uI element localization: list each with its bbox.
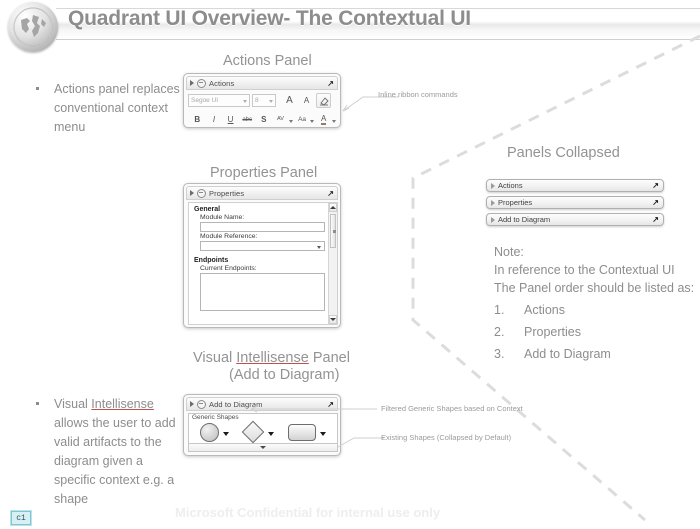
arrow-down-icon — [330, 318, 336, 321]
font-color-button[interactable]: A — [316, 112, 331, 127]
collapsed-panel-properties[interactable]: Properties ↗ — [486, 196, 664, 209]
collapsed-panel-label: Actions — [498, 181, 523, 190]
change-case-button[interactable]: Aa — [295, 112, 310, 127]
generic-shapes-group: Generic Shapes — [188, 413, 338, 444]
font-size-value: 8 — [255, 97, 259, 104]
properties-panel-body: General Module Name: Module Reference: E… — [188, 202, 338, 325]
heading-intellisense-word: Intellisense — [236, 350, 309, 366]
bullet-actions-panel: Actions panel replaces conventional cont… — [36, 80, 181, 137]
slide-title-bar: Quadrant UI Overview- The Contextual UI — [0, 0, 700, 46]
add-to-diagram-panel-title: Add to Diagram — [209, 400, 263, 409]
chevron-down-icon[interactable] — [317, 246, 321, 249]
annotation-filtered-generic-shapes: Filtered Generic Shapes based on Context — [381, 404, 523, 413]
panel-badge-icon — [197, 79, 206, 88]
collapsed-panel-actions[interactable]: Actions ↗ — [486, 179, 664, 192]
actions-ribbon-row-2: B I U abc S AV Aa A — [186, 111, 338, 128]
annotation-inline-ribbon-commands: Inline ribbon commands — [378, 90, 458, 99]
chevron-down-icon[interactable] — [332, 120, 336, 123]
heading-properties-panel: Properties Panel — [210, 165, 317, 181]
panel-badge-icon — [197, 400, 206, 409]
collapsed-panel-label: Add to Diagram — [498, 215, 550, 224]
properties-panel-title: Properties — [209, 189, 244, 198]
properties-vertical-scrollbar[interactable] — [328, 203, 337, 324]
heading-panels-collapsed: Panels Collapsed — [507, 145, 620, 161]
current-endpoints-textarea[interactable] — [200, 273, 325, 311]
expand-triangle-icon[interactable] — [190, 401, 194, 407]
note-block: Note: In reference to the Contextual UI … — [494, 243, 694, 363]
actions-panel[interactable]: Actions ↗ Segoe UI 8 A A B I — [183, 73, 341, 128]
note-line-2: The Panel order should be listed as: — [494, 279, 694, 297]
chevron-down-icon[interactable] — [268, 432, 274, 436]
grow-font-button[interactable]: A — [282, 93, 297, 108]
heading-visual-word: Visual — [193, 350, 236, 366]
note-item-label: Actions — [524, 301, 565, 319]
popout-arrow-icon[interactable]: ↗ — [652, 181, 659, 190]
arrow-up-icon — [330, 206, 336, 209]
chevron-down-icon — [260, 446, 266, 449]
chevron-down-icon[interactable] — [320, 432, 326, 436]
underline-button[interactable]: U — [223, 112, 238, 127]
bullet-text: Actions panel replaces conventional cont… — [54, 80, 181, 137]
popout-arrow-icon[interactable]: ↗ — [327, 79, 334, 88]
chevron-down-icon[interactable] — [310, 120, 314, 123]
rounded-rect-shape-icon — [288, 424, 316, 441]
actions-panel-title-bar[interactable]: Actions ↗ — [186, 76, 338, 90]
font-name-combo[interactable]: Segoe UI — [188, 94, 250, 107]
footer-confidentiality-text: Microsoft Confidential for internal use … — [175, 505, 440, 520]
module-reference-label: Module Reference: — [200, 233, 332, 240]
scroll-up-button[interactable] — [329, 203, 337, 212]
font-color-label: A — [321, 114, 326, 125]
shrink-font-button[interactable]: A — [299, 93, 314, 108]
note-item-label: Properties — [524, 323, 581, 341]
chevron-down-icon[interactable] — [223, 432, 229, 436]
globe-icon — [8, 2, 58, 52]
shrink-font-label: A — [304, 96, 309, 105]
page-title: Quadrant UI Overview- The Contextual UI — [68, 7, 471, 31]
note-line-1: In reference to the Contextual UI — [494, 261, 694, 279]
expand-triangle-icon[interactable] — [491, 217, 495, 223]
note-item-number: 1. — [494, 301, 524, 319]
scrollbar-thumb[interactable] — [330, 214, 336, 248]
bullet-underlined-term: Intellisense — [91, 397, 154, 411]
bold-button[interactable]: B — [190, 112, 205, 127]
change-case-label: Aa — [298, 116, 306, 123]
popout-arrow-icon[interactable]: ↗ — [652, 215, 659, 224]
collapsed-panel-label: Properties — [498, 198, 532, 207]
expand-triangle-icon[interactable] — [491, 183, 495, 189]
circle-shape-button[interactable] — [200, 423, 229, 442]
strikethrough-button[interactable]: abc — [240, 112, 255, 127]
popout-arrow-icon[interactable]: ↗ — [327, 400, 334, 409]
actions-panel-title: Actions — [209, 79, 234, 88]
generic-shapes-row — [189, 421, 337, 443]
bullet-visual-intellisense: Visual Intellisense allows the user to a… — [36, 395, 184, 509]
module-name-input[interactable] — [200, 222, 325, 232]
character-spacing-label: AV — [277, 117, 284, 122]
heading-actions-panel: Actions Panel — [223, 53, 312, 69]
annotation-existing-shapes: Existing Shapes (Collapsed by Default) — [381, 433, 511, 442]
properties-panel[interactable]: Properties ↗ General Module Name: Module… — [183, 183, 341, 328]
note-list-item: 3. Add to Diagram — [494, 345, 694, 363]
bullet-text: Visual Intellisense allows the user to a… — [54, 395, 184, 509]
current-endpoints-label: Current Endpoints: — [200, 265, 332, 272]
font-size-combo[interactable]: 8 — [252, 94, 276, 107]
module-reference-select[interactable] — [200, 241, 325, 251]
heading-intellisense-panel-line2: (Add to Diagram) — [229, 367, 339, 383]
font-name-value: Segoe UI — [191, 97, 218, 104]
character-spacing-button[interactable]: AV — [273, 112, 288, 127]
bullet-prefix: Visual — [54, 397, 91, 411]
popout-arrow-icon[interactable]: ↗ — [652, 198, 659, 207]
group-endpoints-label: Endpoints — [194, 257, 332, 264]
diamond-shape-button[interactable] — [243, 422, 274, 442]
italic-label: I — [213, 115, 215, 124]
comment-marker[interactable]: c1 — [11, 511, 31, 525]
shadow-label: S — [261, 115, 266, 124]
properties-panel-title-bar[interactable]: Properties ↗ — [186, 186, 338, 200]
add-to-diagram-title-bar[interactable]: Add to Diagram ↗ — [186, 397, 338, 411]
module-name-label: Module Name: — [200, 214, 332, 221]
group-general-label: General — [194, 206, 332, 213]
expand-triangle-icon[interactable] — [190, 80, 194, 86]
expand-triangle-icon[interactable] — [491, 200, 495, 206]
note-title: Note: — [494, 243, 694, 261]
chevron-down-icon[interactable] — [269, 100, 273, 103]
actions-ribbon-row-1: Segoe UI 8 A A — [186, 92, 338, 109]
grow-font-label: A — [286, 95, 293, 106]
add-to-diagram-panel[interactable]: Add to Diagram ↗ Generic Shapes — [183, 394, 341, 456]
scroll-down-button[interactable] — [329, 315, 337, 324]
properties-form: General Module Name: Module Reference: E… — [189, 203, 337, 314]
eraser-icon — [319, 96, 329, 106]
note-item-number: 3. — [494, 345, 524, 363]
rounded-rect-shape-button[interactable] — [288, 424, 326, 441]
clear-formatting-button[interactable] — [316, 93, 331, 108]
circle-shape-icon — [200, 423, 219, 442]
note-item-label: Add to Diagram — [524, 345, 611, 363]
heading-panel-word: Panel — [309, 350, 350, 366]
text-shadow-button[interactable]: S — [257, 112, 272, 127]
bullet-dot-icon — [36, 402, 39, 405]
bold-label: B — [194, 115, 200, 124]
note-item-number: 2. — [494, 323, 524, 341]
note-list-item: 1. Actions — [494, 301, 694, 319]
diamond-shape-icon — [242, 421, 265, 444]
underline-label: U — [228, 115, 234, 124]
chevron-down-icon[interactable] — [243, 100, 247, 103]
leader-line-existing-shapes — [336, 433, 386, 451]
heading-intellisense-panel-line1: Visual Intellisense Panel — [193, 350, 350, 366]
generic-shapes-label: Generic Shapes — [189, 414, 337, 421]
bullet-dot-icon — [36, 87, 39, 90]
chevron-down-icon[interactable] — [289, 120, 293, 123]
popout-arrow-icon[interactable]: ↗ — [327, 189, 334, 198]
strikethrough-label: abc — [242, 117, 252, 123]
note-list-item: 2. Properties — [494, 323, 694, 341]
italic-button[interactable]: I — [207, 112, 222, 127]
existing-shapes-collapsed-bar[interactable] — [188, 443, 338, 452]
panel-badge-icon — [197, 189, 206, 198]
collapsed-panel-add-to-diagram[interactable]: Add to Diagram ↗ — [486, 213, 664, 226]
bullet-rest: allows the user to add valid artifacts t… — [54, 416, 176, 506]
expand-triangle-icon[interactable] — [190, 190, 194, 196]
